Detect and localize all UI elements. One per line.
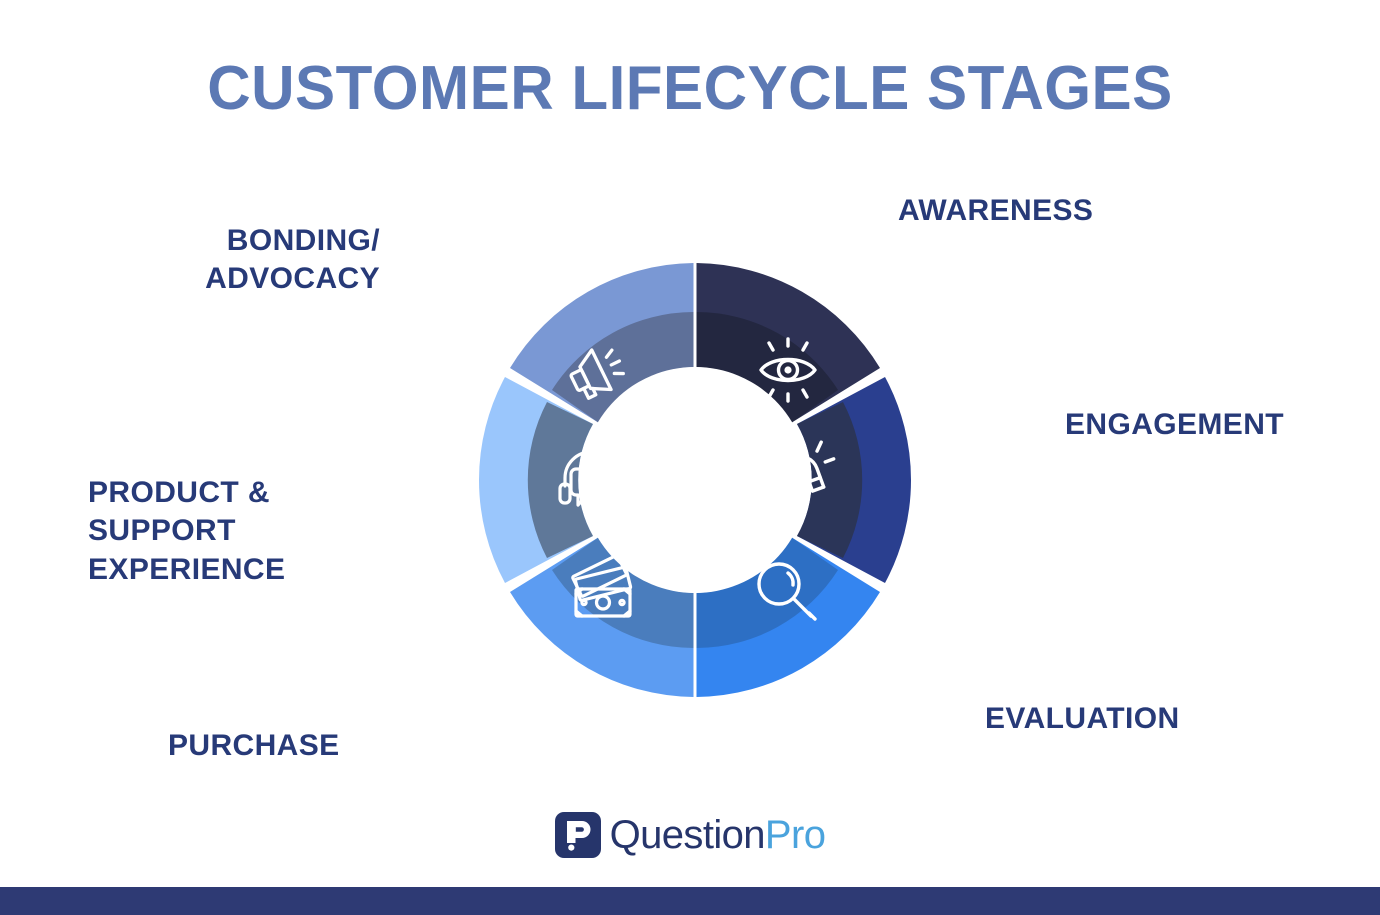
infographic-canvas: CUSTOMER LIFECYCLE STAGES	[0, 0, 1380, 915]
page-title: CUSTOMER LIFECYCLE STAGES	[21, 56, 1360, 121]
stage-label-engagement: ENGAGEMENT	[1065, 406, 1284, 444]
logo-word-pro: Pro	[765, 813, 825, 857]
donut-svg	[455, 240, 935, 720]
stage-label-product-support: PRODUCT & SUPPORT EXPERIENCE	[88, 474, 285, 589]
bottom-bar	[0, 887, 1380, 915]
questionpro-logo: QuestionPro	[0, 812, 1380, 858]
stage-label-awareness: AWARENESS	[898, 192, 1093, 230]
stage-label-purchase: PURCHASE	[168, 727, 340, 765]
questionpro-logo-text: QuestionPro	[610, 815, 826, 855]
logo-word-question: Question	[610, 813, 765, 857]
stage-label-bonding-advocacy: BONDING/ ADVOCACY	[80, 222, 380, 299]
questionpro-logo-mark	[555, 812, 601, 858]
lifecycle-donut-chart	[455, 240, 935, 720]
logo-p-question-icon	[563, 819, 593, 851]
stage-label-evaluation: EVALUATION	[985, 700, 1180, 738]
donut-center-hole	[582, 367, 808, 593]
